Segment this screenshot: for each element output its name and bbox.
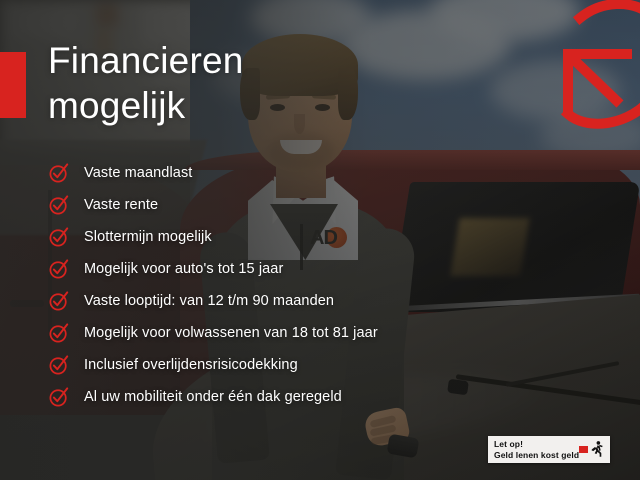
status-badge: Let op! Geld lenen kost geld bbox=[488, 436, 610, 463]
list-item-label: Inclusief overlijdensrisicodekking bbox=[84, 357, 298, 373]
financing-promo-banner: AD Financieren mogelijk Vaste maandlast bbox=[0, 0, 640, 480]
list-item-label: Al uw mobiliteit onder één dak geregeld bbox=[84, 389, 342, 405]
page-title: Financieren mogelijk bbox=[48, 38, 244, 128]
benefits-checklist: Vaste maandlast Vaste rente Slottermijn … bbox=[48, 157, 378, 413]
check-circle-icon bbox=[48, 194, 70, 216]
list-item-label: Vaste maandlast bbox=[84, 165, 192, 181]
warning-line-2: Geld lenen kost geld bbox=[494, 450, 579, 461]
list-item-label: Mogelijk voor auto's tot 15 jaar bbox=[84, 261, 283, 277]
list-item-label: Vaste looptijd: van 12 t/m 90 maanden bbox=[84, 293, 334, 309]
check-circle-icon bbox=[48, 322, 70, 344]
list-item: Mogelijk voor volwassenen van 18 tot 81 … bbox=[48, 317, 378, 349]
check-circle-icon bbox=[48, 386, 70, 408]
check-circle-icon bbox=[48, 162, 70, 184]
list-item: Vaste rente bbox=[48, 189, 378, 221]
list-item: Al uw mobiliteit onder één dak geregeld bbox=[48, 381, 378, 413]
check-circle-icon bbox=[48, 258, 70, 280]
walking-man-debt-icon bbox=[579, 440, 604, 459]
list-item: Vaste looptijd: van 12 t/m 90 maanden bbox=[48, 285, 378, 317]
list-item: Vaste maandlast bbox=[48, 157, 378, 189]
list-item-label: Slottermijn mogelijk bbox=[84, 229, 212, 245]
list-item: Mogelijk voor auto's tot 15 jaar bbox=[48, 253, 378, 285]
list-item-label: Mogelijk voor volwassenen van 18 tot 81 … bbox=[84, 325, 378, 341]
list-item: Inclusief overlijdensrisicodekking bbox=[48, 349, 378, 381]
check-circle-icon bbox=[48, 226, 70, 248]
check-circle-icon bbox=[48, 290, 70, 312]
warning-line-1: Let op! bbox=[494, 439, 579, 450]
check-circle-icon bbox=[48, 354, 70, 376]
list-item-label: Vaste rente bbox=[84, 197, 158, 213]
headline-line-2: mogelijk bbox=[48, 83, 244, 128]
headline-line-1: Financieren bbox=[48, 40, 244, 81]
warning-text: Let op! Geld lenen kost geld bbox=[494, 439, 579, 461]
